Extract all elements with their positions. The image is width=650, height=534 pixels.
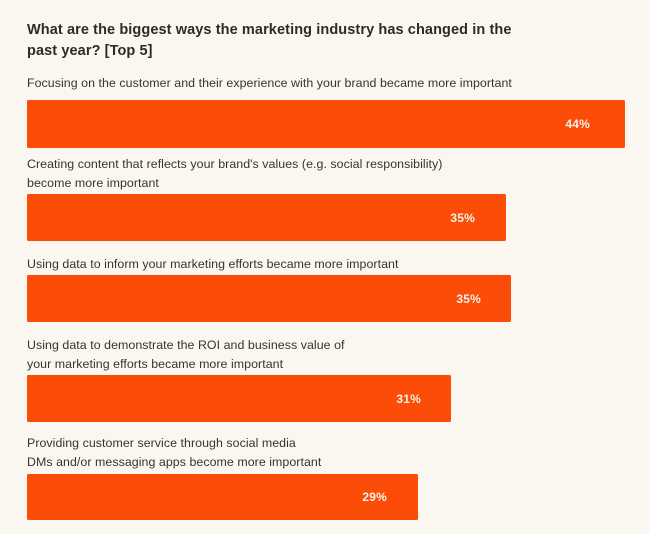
bar-fill[interactable] (27, 375, 451, 422)
bar-value-label: 31% (396, 375, 421, 422)
bar-row: Using data to demonstrate the ROI and bu… (0, 336, 650, 424)
bar-value-label: 35% (450, 194, 475, 241)
horizontal-bar-chart: What are the biggest ways the marketing … (0, 0, 650, 534)
bar-row: Creating content that reflects your bran… (0, 155, 650, 243)
bar-track: 29% (27, 474, 418, 520)
bar-fill[interactable] (27, 100, 625, 148)
bar-row: Using data to inform your marketing effo… (0, 255, 650, 331)
bar-category-label-line-1: Focusing on the customer and their exper… (27, 76, 512, 90)
bar-category-label-line-1: Creating content that reflects your bran… (27, 157, 442, 171)
bar-category-label: Using data to inform your marketing effo… (27, 255, 587, 274)
bar-track: 31% (27, 375, 451, 422)
bar-category-label: Creating content that reflects your bran… (27, 155, 587, 193)
bar-track: 35% (27, 275, 511, 322)
bar-track: 35% (27, 194, 506, 241)
bar-value-label: 29% (362, 474, 387, 520)
bar-row: Focusing on the customer and their exper… (0, 74, 650, 152)
bar-track: 44% (27, 100, 625, 148)
bar-fill[interactable] (27, 275, 511, 322)
bar-category-label: Providing customer service through socia… (27, 434, 587, 472)
bar-category-label: Using data to demonstrate the ROI and bu… (27, 336, 587, 374)
bar-category-label-line-1: Using data to inform your marketing effo… (27, 257, 398, 271)
bar-category-label-line-1: Providing customer service through socia… (27, 436, 296, 450)
bar-row: Providing customer service through socia… (0, 434, 650, 522)
chart-title: What are the biggest ways the marketing … (27, 20, 527, 62)
bar-category-label-line-2: DMs and/or messaging apps become more im… (27, 455, 321, 469)
bar-value-label: 44% (565, 100, 590, 148)
bar-category-label-line-2: your marketing efforts became more impor… (27, 357, 283, 371)
bar-category-label: Focusing on the customer and their exper… (27, 74, 587, 93)
bar-fill[interactable] (27, 474, 418, 520)
bar-value-label: 35% (456, 275, 481, 322)
bar-fill[interactable] (27, 194, 506, 241)
bar-category-label-line-2: become more important (27, 176, 159, 190)
bar-category-label-line-1: Using data to demonstrate the ROI and bu… (27, 338, 345, 352)
